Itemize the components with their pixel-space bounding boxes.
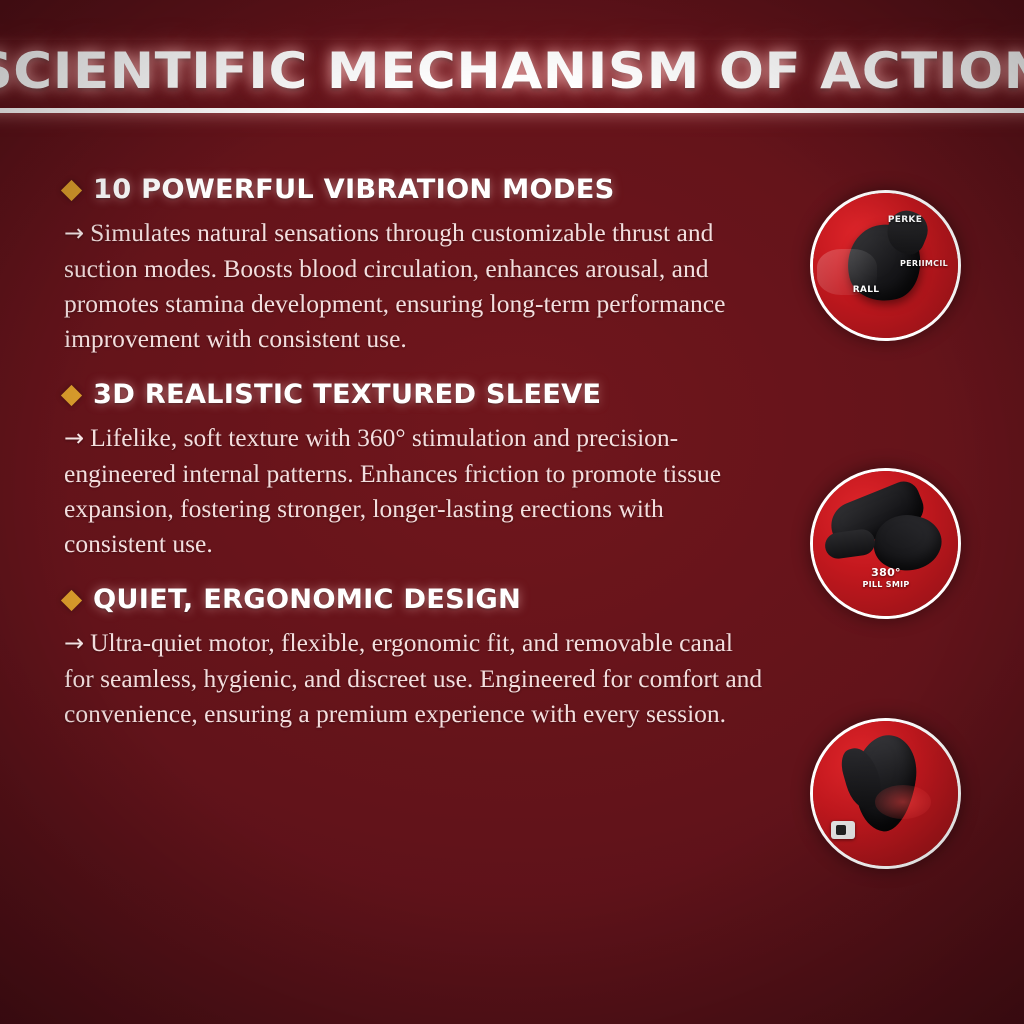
poster-canvas: SCIENTIFIC MECHANISM OF ACTION 10 POWERF…	[0, 0, 1024, 1024]
photo-label-1: PERKE	[875, 215, 935, 225]
feature-block-1: 10 POWERFUL VIBRATION MODES →Simulates n…	[64, 175, 764, 356]
feature-heading-row-1: 10 POWERFUL VIBRATION MODES	[64, 175, 764, 205]
feature-heading-3: QUIET, ERGONOMIC DESIGN	[93, 585, 521, 615]
diamond-icon	[61, 384, 82, 405]
product-photo-vibration-modes: PERKE PERIIMCIL RALL	[810, 190, 961, 341]
page-title-container: SCIENTIFIC MECHANISM OF ACTION	[0, 40, 1024, 113]
product-photo-ergonomic-design	[810, 718, 961, 869]
feature-block-2: 3D REALISTIC TEXTURED SLEEVE →Lifelike, …	[64, 380, 764, 561]
feature-heading-row-2: 3D REALISTIC TEXTURED SLEEVE	[64, 380, 764, 410]
photo-label-3: RALL	[841, 285, 891, 295]
arrow-icon: →	[64, 424, 84, 452]
arrow-icon: →	[64, 219, 84, 247]
feature-body-1: →Simulates natural sensations through cu…	[64, 215, 764, 356]
feature-body-text-3: Ultra-quiet motor, flexible, ergonomic f…	[64, 628, 762, 728]
feature-body-3: →Ultra-quiet motor, flexible, ergonomic …	[64, 625, 764, 731]
photo-background: 380° PILL SMIP	[813, 471, 958, 616]
feature-body-2: →Lifelike, soft texture with 360° stimul…	[64, 420, 764, 561]
feature-body-text-1: Simulates natural sensations through cus…	[64, 218, 725, 353]
photo-label-2: PILL SMIP	[837, 580, 935, 590]
device-glow	[875, 785, 931, 819]
feature-heading-1: 10 POWERFUL VIBRATION MODES	[93, 175, 615, 205]
arrow-icon: →	[64, 629, 84, 657]
feature-body-text-2: Lifelike, soft texture with 360° stimula…	[64, 423, 721, 558]
feature-heading-row-3: QUIET, ERGONOMIC DESIGN	[64, 585, 764, 615]
diamond-icon	[61, 589, 82, 610]
photo-label-2: PERIIMCIL	[891, 259, 957, 268]
features-list: 10 POWERFUL VIBRATION MODES →Simulates n…	[64, 175, 764, 755]
product-photo-textured-sleeve: 380° PILL SMIP	[810, 468, 961, 619]
photo-label-1: 380°	[849, 566, 923, 579]
diamond-icon	[61, 179, 82, 200]
photo-background	[813, 721, 958, 866]
feature-heading-2: 3D REALISTIC TEXTURED SLEEVE	[93, 380, 601, 410]
feature-block-3: QUIET, ERGONOMIC DESIGN →Ultra-quiet mot…	[64, 585, 764, 731]
page-title: SCIENTIFIC MECHANISM OF ACTION	[0, 40, 1024, 113]
control-chip-icon	[831, 821, 855, 839]
photo-background: PERKE PERIIMCIL RALL	[813, 193, 958, 338]
